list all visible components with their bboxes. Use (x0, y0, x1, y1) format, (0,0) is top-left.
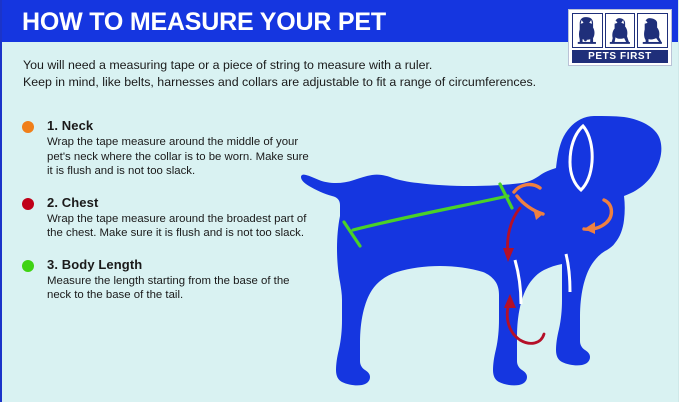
step-item-body-length: 3. Body Length Measure the length starti… (22, 257, 312, 303)
bullet-chest (22, 198, 34, 210)
step-body-neck: Wrap the tape measure around the middle … (47, 135, 312, 179)
step-title-body-length: 3. Body Length (47, 257, 312, 272)
intro-line-1: You will need a measuring tape or a piec… (23, 57, 603, 74)
step-item-neck: 1. Neck Wrap the tape measure around the… (22, 118, 312, 179)
page-title: HOW TO MEASURE YOUR PET (22, 8, 386, 37)
bullet-neck (22, 121, 34, 133)
logo-frames (572, 13, 668, 48)
dog-sitting-icon (637, 13, 668, 48)
dog-measurement-diagram: BODY LENGTH NECK CHEST (298, 104, 679, 402)
dog-silhouette-icon (301, 116, 661, 385)
step-item-chest: 2. Chest Wrap the tape measure around th… (22, 195, 312, 241)
steps-list: 1. Neck Wrap the tape measure around the… (22, 118, 312, 319)
step-title-neck: 1. Neck (47, 118, 312, 133)
intro-line-2: Keep in mind, like belts, harnesses and … (23, 74, 603, 91)
step-body-chest: Wrap the tape measure around the broades… (47, 212, 312, 241)
step-body-body-length: Measure the length starting from the bas… (47, 274, 312, 303)
dog-sitting-icon (572, 13, 603, 48)
intro-text: You will need a measuring tape or a piec… (23, 57, 603, 91)
infographic-page: HOW TO MEASURE YOUR PET (0, 0, 679, 402)
step-title-chest: 2. Chest (47, 195, 312, 210)
dog-standing-icon (605, 13, 636, 48)
bullet-body-length (22, 260, 34, 272)
